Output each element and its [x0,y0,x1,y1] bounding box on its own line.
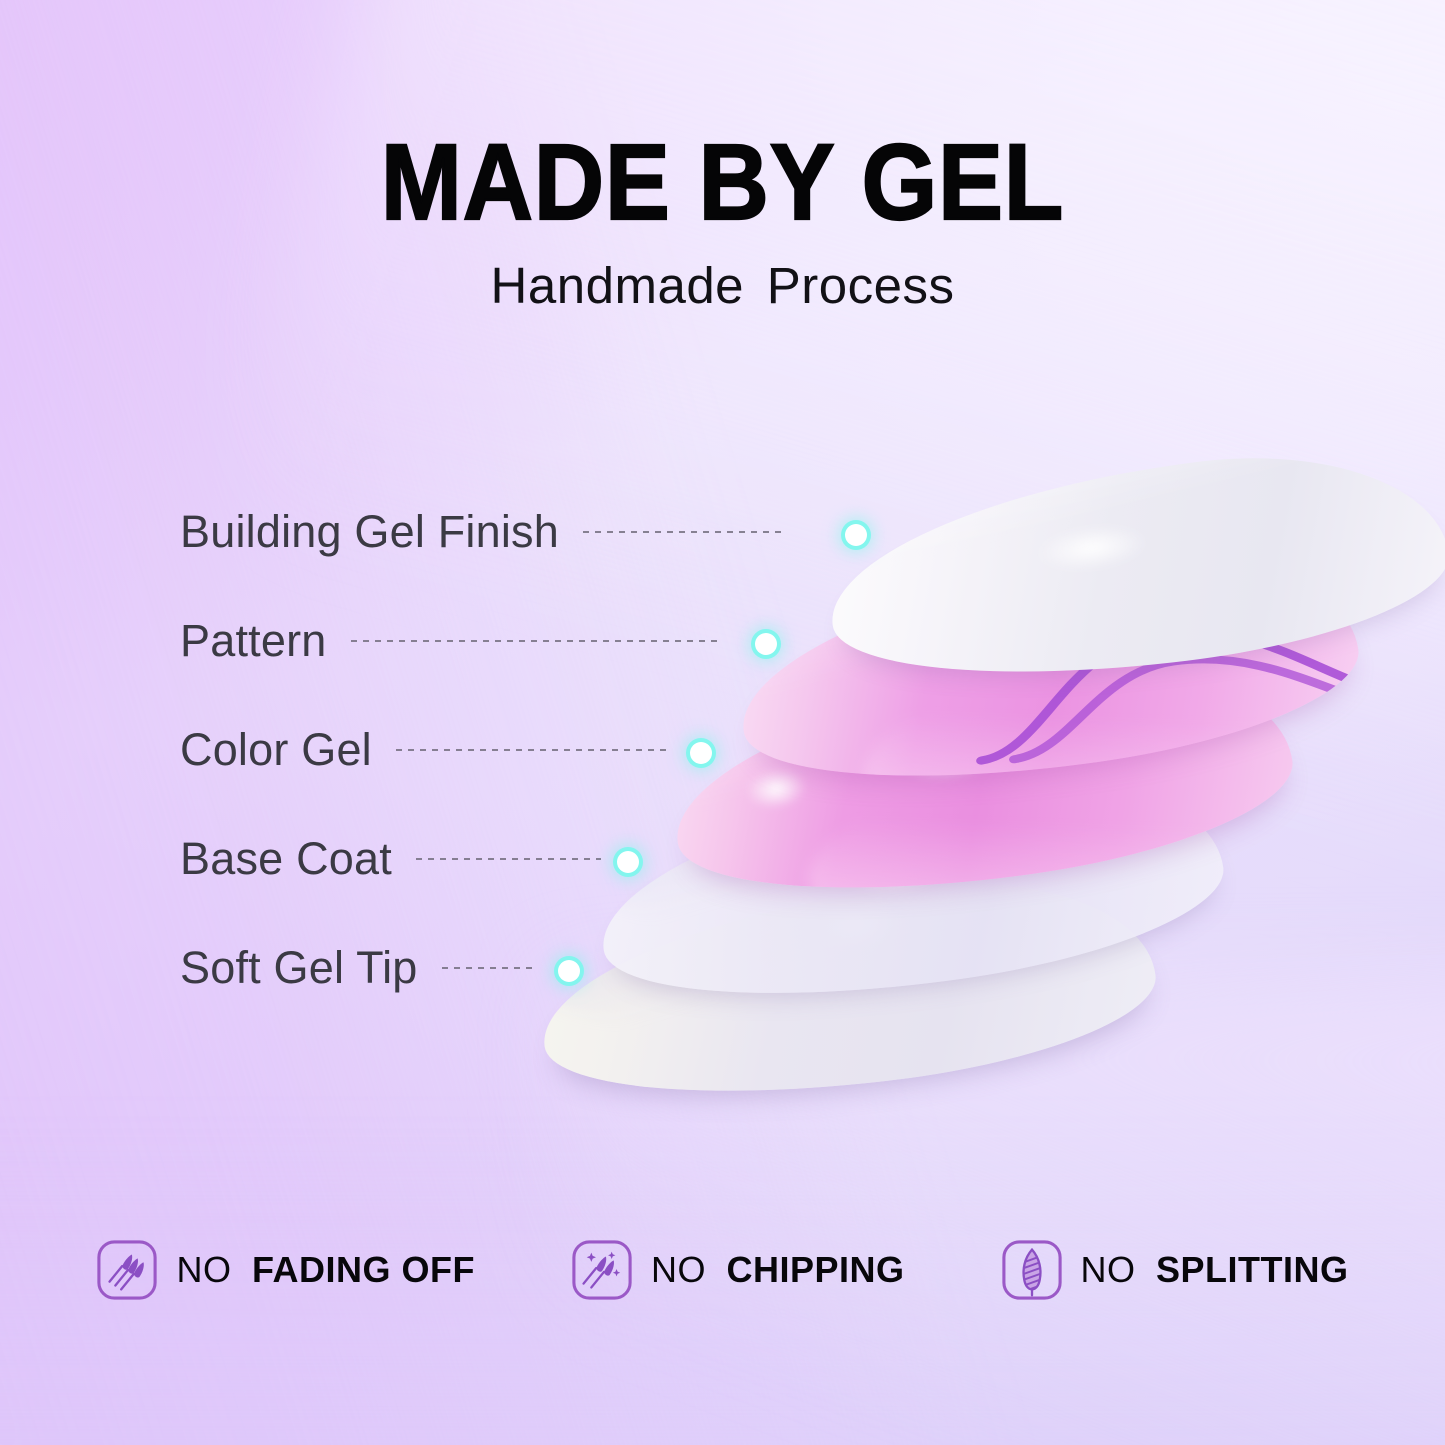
badge-no-fading-off: NO FADING OFF [96,1239,475,1301]
callout-label: Building Gel Finish [180,506,559,558]
badge-emphasis: SPLITTING [1156,1249,1349,1290]
anchor-dot-icon [617,851,639,873]
feature-badge-row: NO FADING OFF [0,1220,1445,1320]
badge-no-chipping: NO CHIPPING [571,1239,905,1301]
callout-soft-gel-tip: Soft Gel Tip [180,942,537,994]
callout-base-coat: Base Coat [180,833,601,885]
badge-prefix: NO [176,1249,231,1290]
leader-line [442,967,537,969]
poster-canvas: MADE BY GEL Handmade Process [0,0,1445,1445]
anchor-dot-icon [845,524,867,546]
badge-emphasis: FADING OFF [252,1249,475,1290]
leader-line [583,531,783,533]
leader-line [416,858,601,860]
callout-building-gel-finish: Building Gel Finish [180,506,783,558]
leader-line [396,749,671,751]
badge-prefix: NO [651,1249,706,1290]
badge-label: NO CHIPPING [651,1249,905,1291]
badge-no-splitting: NO SPLITTING [1001,1239,1349,1301]
callout-label: Color Gel [180,724,372,776]
badge-prefix: NO [1081,1249,1136,1290]
leader-line [351,640,721,642]
anchor-dot-icon [690,742,712,764]
callout-label: Base Coat [180,833,392,885]
badge-label: NO FADING OFF [176,1249,475,1291]
callout-label: Pattern [180,615,327,667]
striped-nail-icon [1001,1239,1063,1301]
badge-label: NO SPLITTING [1081,1249,1349,1291]
anchor-dot-icon [755,633,777,655]
three-nails-streaking-icon [96,1239,158,1301]
callout-pattern: Pattern [180,615,721,667]
nails-with-sparkles-icon [571,1239,633,1301]
callout-label: Soft Gel Tip [180,942,418,994]
callout-color-gel: Color Gel [180,724,671,776]
badge-emphasis: CHIPPING [726,1249,904,1290]
anchor-dot-icon [558,960,580,982]
